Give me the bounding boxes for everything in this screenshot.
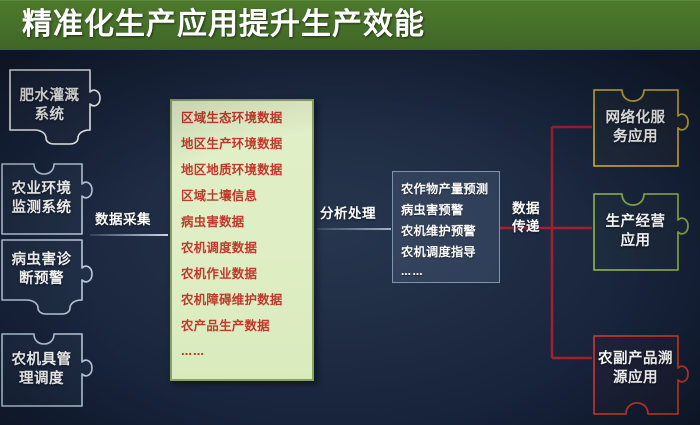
list-item: 地区生产环境数据: [181, 137, 312, 151]
connector-label-data-delivery: 数据 传递: [512, 200, 540, 236]
piece-label: 肥水灌溉 系统: [8, 68, 100, 144]
list-item-ellipsis: ……: [401, 265, 499, 281]
list-item: 区域生态环境数据: [181, 111, 312, 125]
connector-line-analysis-processing: [317, 228, 391, 230]
piece-label: 生产经营 应用: [592, 192, 688, 272]
piece-label: 农业环境 监测系统: [0, 162, 92, 236]
list-item: 病虫害数据: [181, 215, 312, 229]
sidebar-item-pest-diagnosis-alert[interactable]: 病虫害诊 断预警: [0, 238, 92, 316]
connector-line-data-collection: [90, 234, 168, 236]
list-item: 区域土壤信息: [181, 189, 312, 203]
application-item-product-traceability[interactable]: 农副产品溯 源应用: [592, 334, 688, 416]
connector-label-line2: 传递: [512, 218, 540, 236]
sidebar-item-environment-monitoring[interactable]: 农业环境 监测系统: [0, 162, 92, 236]
list-item: 农机维护预警: [401, 223, 499, 239]
list-item-ellipsis: ……: [181, 345, 312, 359]
piece-label: 农副产品溯 源应用: [592, 334, 688, 416]
application-item-production-operation[interactable]: 生产经营 应用: [592, 192, 688, 272]
list-item: 农机障碍维护数据: [181, 293, 312, 307]
connector-label-line1: 数据: [512, 200, 540, 218]
analysis-output-list: 农作物产量预测 病虫害预警 农机维护预警 农机调度指导 ……: [392, 171, 500, 283]
list-item: 病虫害预警: [401, 202, 499, 218]
connector-label-data-collection: 数据采集: [95, 212, 151, 229]
slide-canvas: 精准化生产应用提升生产效能 肥水灌溉 系统 农业环境 监测系统: [0, 0, 700, 425]
list-item: 农作物产量预测: [401, 181, 499, 197]
list-item: 农机调度数据: [181, 241, 312, 255]
connector-label-analysis-processing: 分析处理: [320, 206, 376, 223]
application-item-networked-service[interactable]: 网络化服 务应用: [592, 88, 688, 168]
piece-label: 病虫害诊 断预警: [0, 238, 92, 302]
list-item: 农机调度指导: [401, 244, 499, 260]
list-item: 农机作业数据: [181, 267, 312, 281]
piece-label: 网络化服 务应用: [592, 88, 688, 168]
list-item: 农产品生产数据: [181, 319, 312, 333]
sidebar-item-irrigation-system[interactable]: 肥水灌溉 系统: [8, 68, 100, 144]
sidebar-item-machinery-management[interactable]: 农机具管 理调度: [0, 332, 92, 408]
collected-data-list: 区域生态环境数据 地区生产环境数据 地区地质环境数据 区域土壤信息 病虫害数据 …: [170, 99, 314, 381]
piece-label: 农机具管 理调度: [0, 332, 92, 408]
list-item: 地区地质环境数据: [181, 163, 312, 177]
